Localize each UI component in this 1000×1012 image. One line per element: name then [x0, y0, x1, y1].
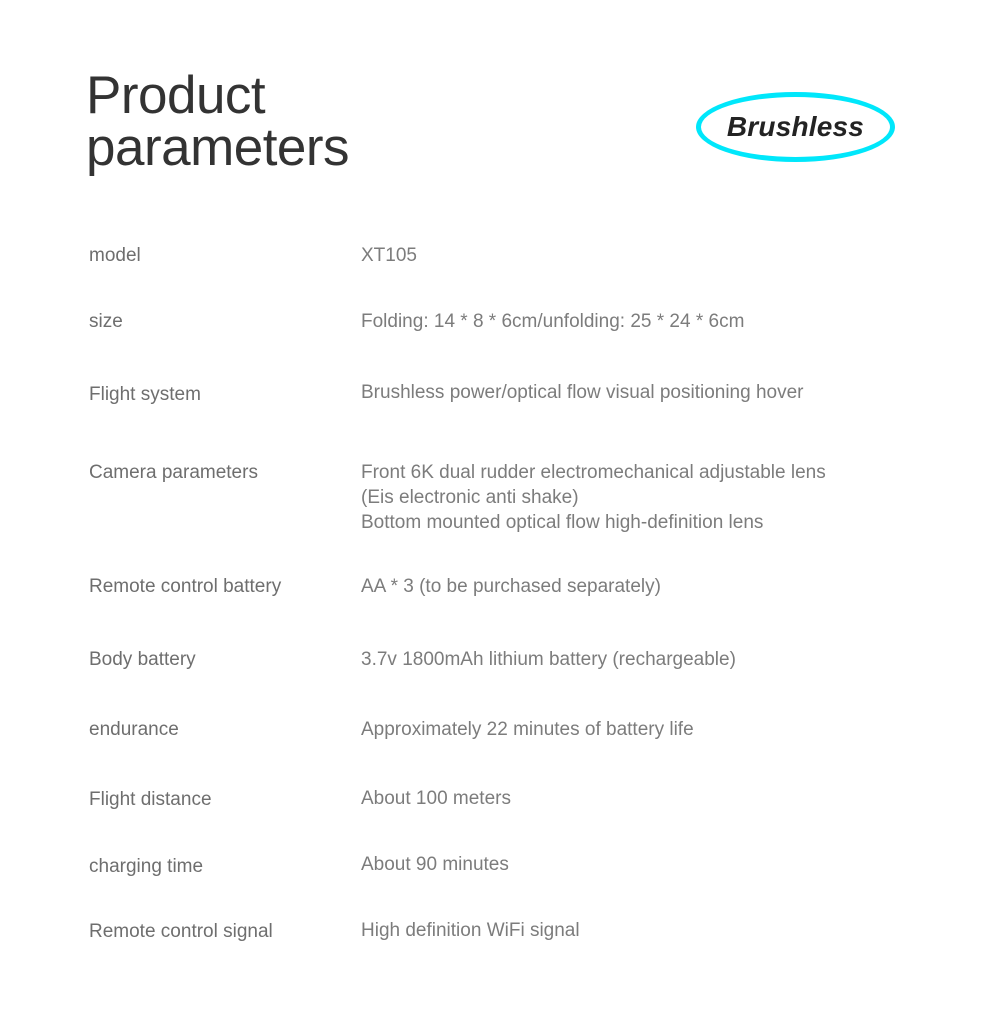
product-parameters-page: Product parameters Brushless modelXT105s… [0, 0, 1000, 1012]
spec-label: charging time [89, 855, 354, 879]
spec-value: 3.7v 1800mAh lithium battery (rechargeab… [361, 648, 961, 672]
spec-label: model [89, 244, 354, 268]
spec-value: About 90 minutes [361, 853, 961, 877]
spec-value: Folding: 14 * 8 * 6cm/unfolding: 25 * 24… [361, 310, 961, 334]
spec-value: Brushless power/optical flow visual posi… [361, 381, 961, 405]
spec-label: endurance [89, 718, 354, 742]
spec-label: Remote control battery [89, 575, 354, 599]
spec-label: Body battery [89, 648, 354, 672]
spec-value: About 100 meters [361, 787, 961, 811]
spec-label: Flight system [89, 383, 354, 407]
spec-label: Remote control signal [89, 920, 354, 944]
spec-value: Approximately 22 minutes of battery life [361, 718, 961, 742]
spec-value: XT105 [361, 244, 961, 268]
spec-label: size [89, 310, 354, 334]
spec-value: AA * 3 (to be purchased separately) [361, 575, 961, 599]
spec-label: Camera parameters [89, 461, 354, 485]
spec-table: modelXT105sizeFolding: 14 * 8 * 6cm/unfo… [0, 0, 1000, 1012]
spec-value: Front 6K dual rudder electromechanical a… [361, 460, 961, 535]
spec-label: Flight distance [89, 788, 354, 812]
spec-value: High definition WiFi signal [361, 919, 961, 943]
